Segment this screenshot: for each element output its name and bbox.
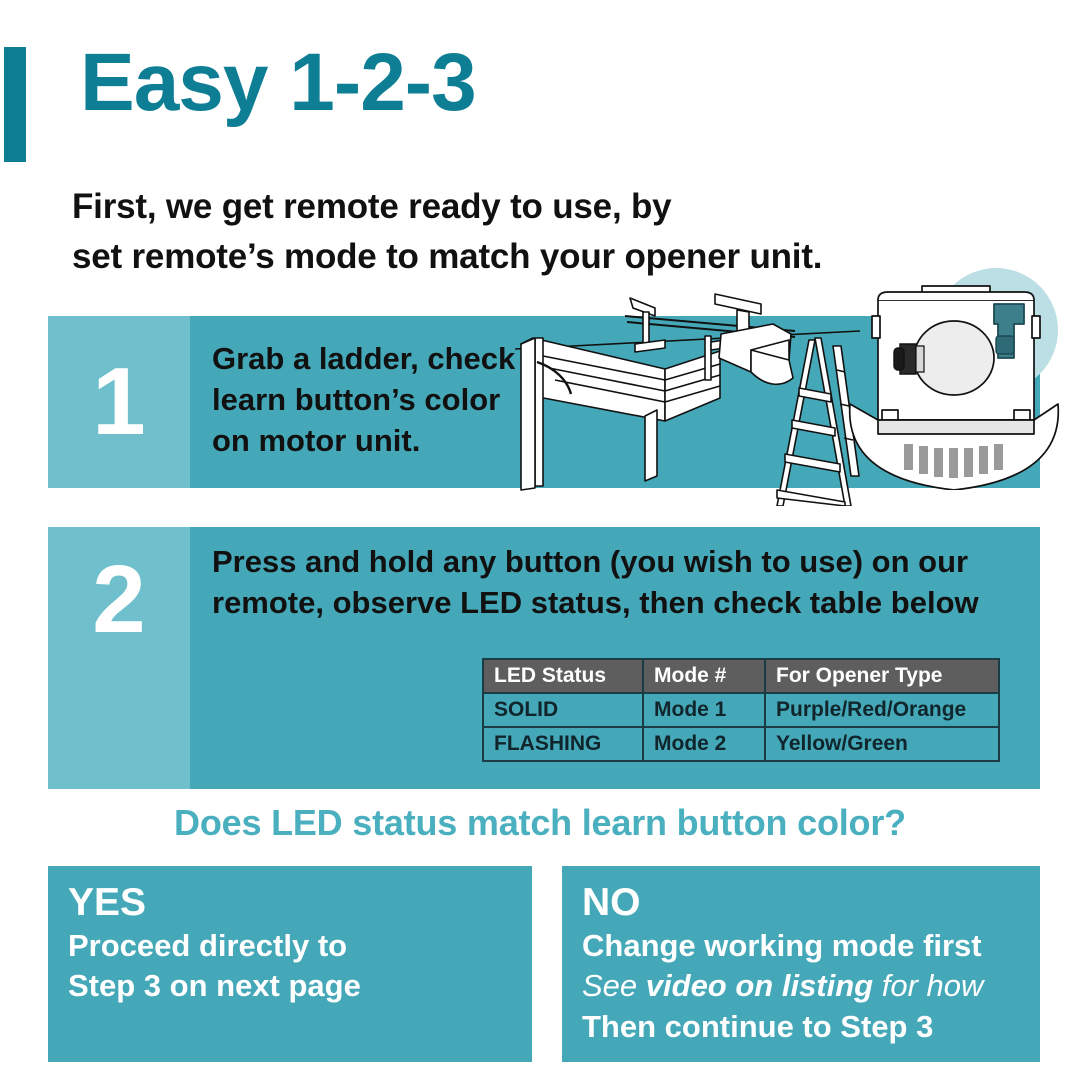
answer-no-line-1: Change working mode first xyxy=(582,926,1020,966)
page-title: Easy 1-2-3 xyxy=(80,42,476,124)
cell-opener-type: Yellow/Green xyxy=(765,727,999,761)
infographic-page: Easy 1-2-3 First, we get remote ready to… xyxy=(0,0,1080,1080)
title-accent-bar xyxy=(4,47,26,162)
table-row: SOLID Mode 1 Purple/Red/Orange xyxy=(483,693,999,727)
answer-yes-line-1: Proceed directly to xyxy=(68,926,512,966)
table-header-led-status: LED Status xyxy=(483,659,643,693)
step-1-number: 1 xyxy=(48,316,190,488)
intro-text: First, we get remote ready to use, by se… xyxy=(72,182,1012,281)
step-1-panel: 1 Grab a ladder, check learn button’s co… xyxy=(48,316,1040,488)
intro-line-2: set remote’s mode to match your opener u… xyxy=(72,232,1012,282)
step-2-line-1: Press and hold any button (you wish to u… xyxy=(212,541,1032,582)
answer-no-line-2: See video on listing for how xyxy=(582,966,1020,1006)
step-1-body: Grab a ladder, check learn button’s colo… xyxy=(190,316,1040,488)
cell-mode: Mode 1 xyxy=(643,693,765,727)
step-1-line-1: Grab a ladder, check xyxy=(212,338,572,379)
step-1-text: Grab a ladder, check learn button’s colo… xyxy=(212,338,572,462)
answer-no-heading: NO xyxy=(582,882,1020,924)
answer-yes-line-2: Step 3 on next page xyxy=(68,966,512,1006)
answer-no-line-2-post: for how xyxy=(873,968,983,1003)
cell-mode: Mode 2 xyxy=(643,727,765,761)
step-1-line-2: learn button’s color xyxy=(212,379,572,420)
step-2-line-2: remote, observe LED status, then check t… xyxy=(212,582,1032,623)
intro-line-1: First, we get remote ready to use, by xyxy=(72,182,1012,232)
table-header-mode: Mode # xyxy=(643,659,765,693)
answer-yes-heading: YES xyxy=(68,882,512,924)
answer-no-line-2-emphasis: video on listing xyxy=(646,968,873,1003)
decision-question: Does LED status match learn button color… xyxy=(0,802,1080,844)
answer-no-line-2-pre: See xyxy=(582,968,646,1003)
answer-yes-box: YES Proceed directly to Step 3 on next p… xyxy=(48,866,532,1062)
cell-led-status: SOLID xyxy=(483,693,643,727)
table-header-opener-type: For Opener Type xyxy=(765,659,999,693)
led-status-table: LED Status Mode # For Opener Type SOLID … xyxy=(482,658,1000,762)
answer-no-box: NO Change working mode first See video o… xyxy=(562,866,1040,1062)
step-2-text: Press and hold any button (you wish to u… xyxy=(212,541,1032,623)
answer-no-line-3: Then continue to Step 3 xyxy=(582,1007,1020,1047)
table-header-row: LED Status Mode # For Opener Type xyxy=(483,659,999,693)
table-row: FLASHING Mode 2 Yellow/Green xyxy=(483,727,999,761)
cell-opener-type: Purple/Red/Orange xyxy=(765,693,999,727)
cell-led-status: FLASHING xyxy=(483,727,643,761)
step-2-number: 2 xyxy=(48,527,190,789)
step-1-line-3: on motor unit. xyxy=(212,420,572,461)
